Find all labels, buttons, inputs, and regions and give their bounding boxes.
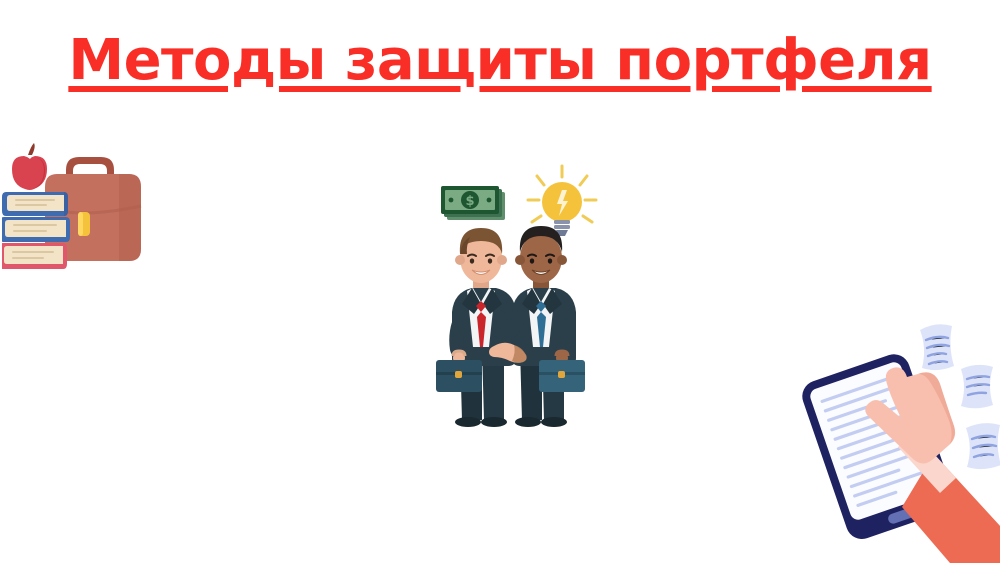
money-icon: $ (441, 186, 505, 220)
books-and-briefcase-illustration (2, 134, 167, 289)
briefcase-handle (66, 157, 114, 175)
slide-canvas: Методы защиты портфеля (0, 0, 1000, 563)
flying-paper-item (961, 365, 993, 408)
businessmen-handshake-illustration: $ (410, 160, 610, 430)
book-item (2, 243, 67, 269)
lightbulb-icon (528, 166, 596, 236)
apple-icon (12, 143, 47, 190)
book-item (2, 217, 70, 242)
flying-paper-item (920, 324, 954, 370)
page-title: Методы защиты портфеля (0, 32, 1000, 91)
svg-text:$: $ (465, 194, 474, 209)
hand-holding-tablet-illustration (802, 312, 1000, 563)
flying-paper-item (966, 423, 1000, 469)
book-item (2, 192, 68, 216)
